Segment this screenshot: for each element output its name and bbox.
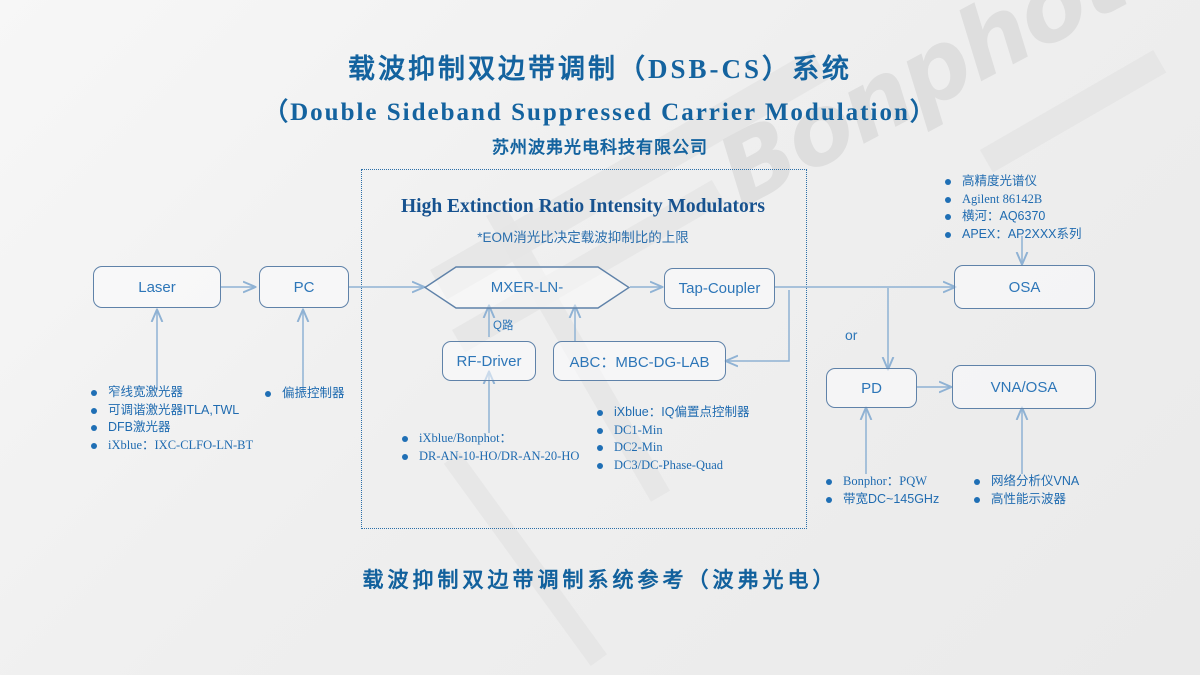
list-item: DC2-Min xyxy=(597,439,749,456)
list-laser-notes: 窄线宽激光器 可调谐激光器ITLA,TWL DFB激光器 iXblue：IXC-… xyxy=(91,384,253,454)
list-item: 高性能示波器 xyxy=(974,491,1079,508)
list-item-label: APEX：AP2XXX系列 xyxy=(962,226,1082,243)
list-item-label: 可调谐激光器ITLA,TWL xyxy=(108,402,239,419)
list-item: iXblue：IXC-CLFO-LN-BT xyxy=(91,437,253,454)
bullet-dot xyxy=(597,428,603,434)
block-osa[interactable]: OSA xyxy=(954,265,1095,309)
bullet-dot xyxy=(826,479,832,485)
list-item-label: DR-AN-10-HO/DR-AN-20-HO xyxy=(419,448,579,465)
list-item-label: iXblue/Bonphot： xyxy=(419,430,512,447)
bullet-dot xyxy=(826,497,832,503)
bullet-dot xyxy=(91,408,97,414)
block-laser-label: Laser xyxy=(138,279,176,296)
bullet-dot xyxy=(91,443,97,449)
connector-layer xyxy=(0,0,1200,675)
list-item-label: iXblue：IXC-CLFO-LN-BT xyxy=(108,437,253,454)
block-pc[interactable]: PC xyxy=(259,266,349,308)
label-or: or xyxy=(845,327,857,343)
bullet-dot xyxy=(402,436,408,442)
list-item: 窄线宽激光器 xyxy=(91,384,253,401)
list-item: 网络分析仪VNA xyxy=(974,473,1079,490)
bullet-dot xyxy=(945,197,951,203)
bullet-dot xyxy=(974,497,980,503)
bullet-dot xyxy=(597,410,603,416)
bullet-dot xyxy=(265,391,271,397)
list-vna-notes: 网络分析仪VNA 高性能示波器 xyxy=(974,473,1079,508)
list-item-label: DC1-Min xyxy=(614,422,663,439)
bullet-dot xyxy=(402,454,408,460)
list-item: Bonphor：PQW xyxy=(826,473,939,490)
list-item: iXblue/Bonphot： xyxy=(402,430,579,447)
block-modulator-label: MXER-LN- xyxy=(424,265,630,310)
list-item: iXblue：IQ偏置点控制器 xyxy=(597,404,749,421)
list-item: Agilent 86142B xyxy=(945,191,1082,208)
list-item: DFB激光器 xyxy=(91,419,253,436)
bullet-dot xyxy=(597,445,603,451)
list-item: DC1-Min xyxy=(597,422,749,439)
bullet-dot xyxy=(974,479,980,485)
list-item: 横河：AQ6370 xyxy=(945,208,1082,225)
block-osa-label: OSA xyxy=(1009,279,1041,296)
list-item: DC3/DC-Phase-Quad xyxy=(597,457,749,474)
list-item-label: DC3/DC-Phase-Quad xyxy=(614,457,723,474)
list-item-label: Agilent 86142B xyxy=(962,191,1042,208)
bullet-dot xyxy=(597,463,603,469)
list-item-label: 高性能示波器 xyxy=(991,491,1066,508)
bullet-dot xyxy=(945,214,951,220)
bullet-dot xyxy=(945,232,951,238)
block-rf-driver-label: RF-Driver xyxy=(457,353,522,370)
list-osa-notes: 高精度光谱仪 Agilent 86142B 横河：AQ6370 APEX：AP2… xyxy=(945,173,1082,243)
list-item-label: DFB激光器 xyxy=(108,419,171,436)
list-item-label: 带宽DC~145GHz xyxy=(843,491,939,508)
list-rf-driver-notes: iXblue/Bonphot： DR-AN-10-HO/DR-AN-20-HO xyxy=(402,430,579,465)
list-item-label: iXblue：IQ偏置点控制器 xyxy=(614,404,749,421)
list-pd-notes: Bonphor：PQW 带宽DC~145GHz xyxy=(826,473,939,508)
list-item-label: 高精度光谱仪 xyxy=(962,173,1037,190)
block-pd[interactable]: PD xyxy=(826,368,917,408)
list-item: DR-AN-10-HO/DR-AN-20-HO xyxy=(402,448,579,465)
list-item-label: 窄线宽激光器 xyxy=(108,384,183,401)
bullet-dot xyxy=(945,179,951,185)
list-pc-notes: 偏振控制器 xyxy=(265,385,345,403)
list-item: 偏振控制器 xyxy=(265,385,345,402)
block-vna-osa[interactable]: VNA/OSA xyxy=(952,365,1096,409)
list-abc-notes: iXblue：IQ偏置点控制器 DC1-Min DC2-Min DC3/DC-P… xyxy=(597,404,749,474)
list-item: APEX：AP2XXX系列 xyxy=(945,226,1082,243)
block-pc-label: PC xyxy=(294,279,315,296)
list-item: 高精度光谱仪 xyxy=(945,173,1082,190)
bullet-dot xyxy=(91,425,97,431)
list-item-label: 偏振控制器 xyxy=(282,385,345,402)
diagram-canvas: Bonphot 载波抑制双边带调制（DSB-CS）系统 （Double Side… xyxy=(0,0,1200,675)
list-item-label: Bonphor：PQW xyxy=(843,473,927,490)
label-q-path: Q路 xyxy=(493,317,513,333)
block-abc[interactable]: ABC：MBC-DG-LAB xyxy=(553,341,726,381)
block-pd-label: PD xyxy=(861,380,882,397)
list-item-label: 网络分析仪VNA xyxy=(991,473,1079,490)
block-tap-coupler[interactable]: Tap-Coupler xyxy=(664,268,775,309)
block-rf-driver[interactable]: RF-Driver xyxy=(442,341,536,381)
list-item: 可调谐激光器ITLA,TWL xyxy=(91,402,253,419)
block-laser[interactable]: Laser xyxy=(93,266,221,308)
bullet-dot xyxy=(91,390,97,396)
list-item: 带宽DC~145GHz xyxy=(826,491,939,508)
block-modulator[interactable]: MXER-LN- xyxy=(424,265,630,310)
block-abc-label: ABC：MBC-DG-LAB xyxy=(569,351,709,372)
block-tap-coupler-label: Tap-Coupler xyxy=(679,280,761,297)
block-vna-osa-label: VNA/OSA xyxy=(991,379,1058,396)
list-item-label: DC2-Min xyxy=(614,439,663,456)
list-item-label: 横河：AQ6370 xyxy=(962,208,1045,225)
